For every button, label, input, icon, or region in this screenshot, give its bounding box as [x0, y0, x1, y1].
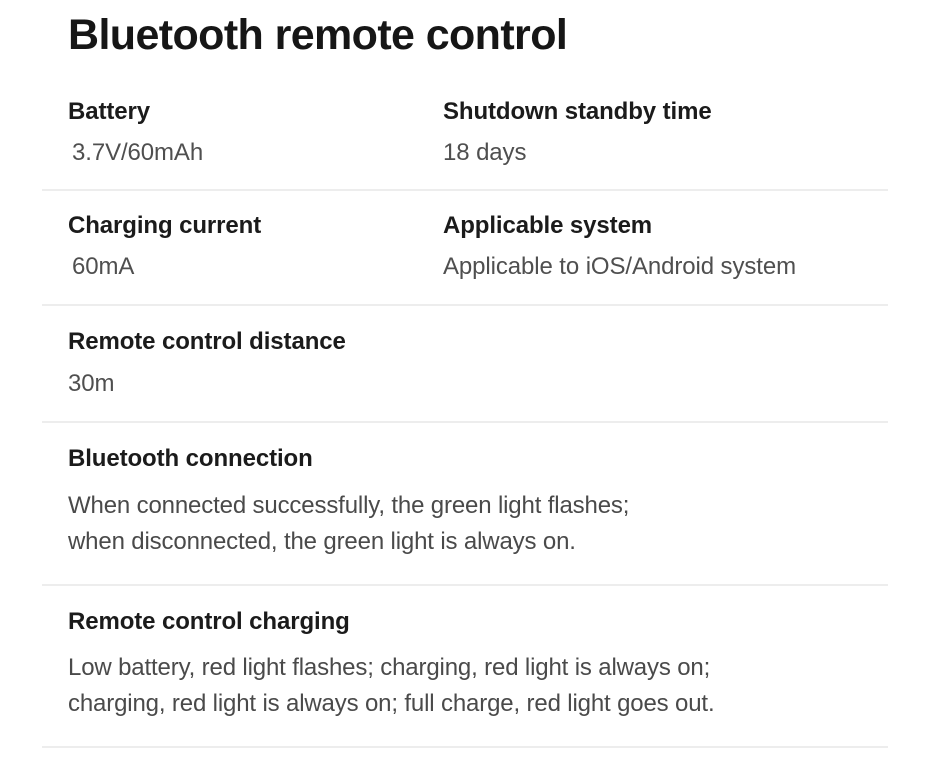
spec-cell-charging-current: Charging current 60mA [68, 212, 443, 282]
spec-value: 30m [68, 370, 888, 399]
spec-row: Battery 3.7V/60mAh Shutdown standby time… [42, 57, 888, 168]
spec-cell-remote-control-charging: Remote control charging Low battery, red… [68, 608, 888, 723]
spec-label: Remote control distance [68, 328, 888, 356]
spec-row: Bluetooth connection When connected succ… [42, 423, 888, 560]
spec-description-line: when disconnected, the green light is al… [68, 524, 888, 560]
spec-description-line: charging, red light is always on; full c… [68, 686, 888, 722]
spec-description: When connected successfully, the green l… [68, 488, 888, 561]
divider [42, 746, 888, 748]
spec-cell-applicable-system: Applicable system Applicable to iOS/Andr… [443, 212, 888, 282]
spec-value: 18 days [443, 139, 888, 168]
page-title: Bluetooth remote control [42, 0, 888, 57]
spec-description: Low battery, red light flashes; charging… [68, 650, 888, 723]
spec-description-line: When connected successfully, the green l… [68, 488, 888, 524]
spec-cell-battery: Battery 3.7V/60mAh [68, 98, 443, 168]
spec-label: Shutdown standby time [443, 98, 888, 126]
spec-row: Remote control distance 30m [42, 306, 888, 398]
spec-label: Remote control charging [68, 608, 888, 636]
spec-row: Charging current 60mA Applicable system … [42, 191, 888, 282]
spec-description-line: Low battery, red light flashes; charging… [68, 650, 888, 686]
spec-label: Battery [68, 98, 443, 126]
spec-value: 3.7V/60mAh [68, 139, 443, 168]
spec-value: 60mA [68, 253, 443, 282]
spec-cell-bluetooth-connection: Bluetooth connection When connected succ… [68, 445, 888, 560]
spec-cell-shutdown-standby-time: Shutdown standby time 18 days [443, 98, 888, 168]
spec-row: Remote control charging Low battery, red… [42, 586, 888, 723]
spec-label: Charging current [68, 212, 443, 240]
spec-label: Bluetooth connection [68, 445, 888, 473]
spec-cell-remote-control-distance: Remote control distance 30m [68, 328, 888, 398]
spec-label: Applicable system [443, 212, 888, 240]
spec-sheet: Bluetooth remote control Battery 3.7V/60… [0, 0, 930, 766]
spec-value: Applicable to iOS/Android system [443, 253, 888, 282]
